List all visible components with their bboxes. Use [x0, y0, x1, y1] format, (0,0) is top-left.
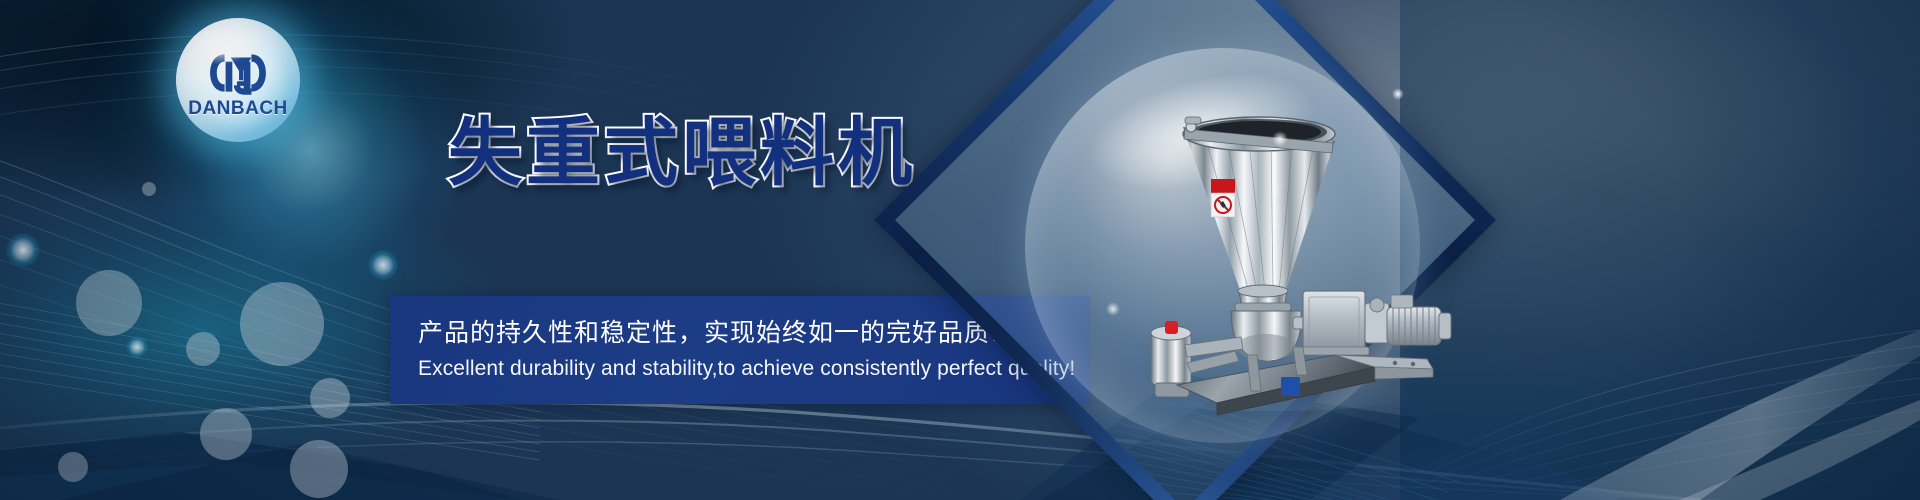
subtitle-chinese: 产品的持久性和稳定性，实现始终如一的完好品质!: [418, 318, 1090, 348]
danbach-logo[interactable]: DANBACH: [176, 18, 300, 142]
background-right-shade: [1400, 0, 1920, 500]
danbach-monogram-icon: [207, 48, 269, 98]
subtitle-panel: 产品的持久性和稳定性，实现始终如一的完好品质! Excellent durabi…: [390, 296, 1090, 404]
product-banner: DANBACH 失重式喂料机 产品的持久性和稳定性，实现始终如一的完好品质! E…: [0, 0, 1920, 500]
banner-title: 失重式喂料机: [448, 116, 916, 191]
logo-wordmark: DANBACH: [188, 99, 288, 118]
subtitle-english: Excellent durability and stability,to ac…: [418, 356, 1090, 381]
